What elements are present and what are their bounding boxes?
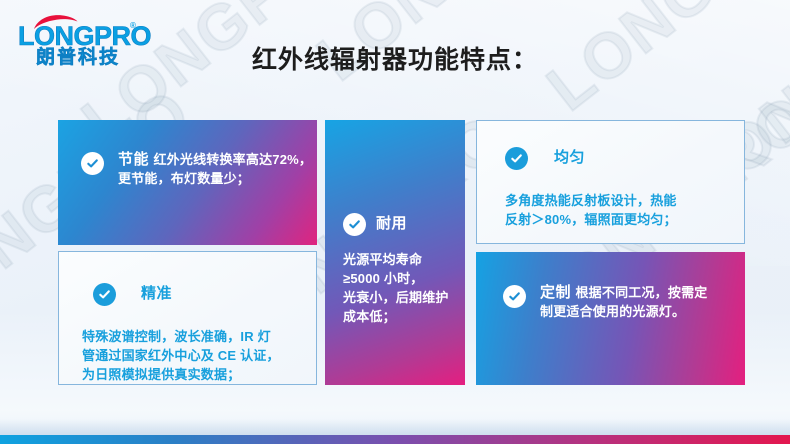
feature-heading-row: 精准 (82, 282, 172, 306)
check-circle-icon (93, 283, 116, 306)
bottom-accent-bar (0, 435, 790, 444)
feature-heading: 耐用 (376, 215, 407, 234)
feature-body: 特殊波谱控制，波长准确，IR 灯 管通过国家红外中心及 CE 认证， 为日照模拟… (82, 328, 280, 385)
check-circle-icon (81, 152, 104, 175)
check-circle-icon (343, 213, 366, 236)
feature-card-energy[interactable]: 节能 红外光线转换率高达72%， 更节能，布灯数量少； (58, 120, 317, 245)
bottom-bar-shadow (0, 419, 790, 435)
feature-heading: 节能 (118, 151, 149, 168)
check-circle-icon (505, 147, 528, 170)
feature-heading-row: 均匀 (505, 146, 585, 170)
page-title: 红外线辐射器功能特点： (0, 40, 790, 76)
logo-registered-mark: ® (130, 21, 136, 30)
feature-body: 多角度热能反射板设计，热能 反射＞80%，辐照面更均匀； (505, 192, 677, 230)
feature-heading: 精准 (141, 285, 172, 304)
feature-body: 光源平均寿命 ≥5000 小时， 光衰小，后期维护 成本低； (343, 251, 449, 326)
feature-card-durable[interactable]: 耐用 光源平均寿命 ≥5000 小时， 光衰小，后期维护 成本低； (325, 120, 465, 385)
check-circle-icon (503, 285, 526, 308)
feature-card-uniform[interactable]: 均匀 多角度热能反射板设计，热能 反射＞80%，辐照面更均匀； (476, 120, 745, 244)
feature-heading: 定制 (540, 284, 571, 301)
slide-canvas: LONGPRO LONGPRO LONGPRO LONGPRO LONGPRO … (0, 0, 790, 444)
feature-heading: 均匀 (554, 149, 585, 168)
feature-card-precise[interactable]: 精准 特殊波谱控制，波长准确，IR 灯 管通过国家红外中心及 CE 认证， 为日… (58, 251, 317, 385)
feature-heading-row: 耐用 (343, 212, 407, 236)
feature-card-custom[interactable]: 定制 根据不同工况，按需定 制更适合使用的光源灯。 (476, 252, 745, 385)
